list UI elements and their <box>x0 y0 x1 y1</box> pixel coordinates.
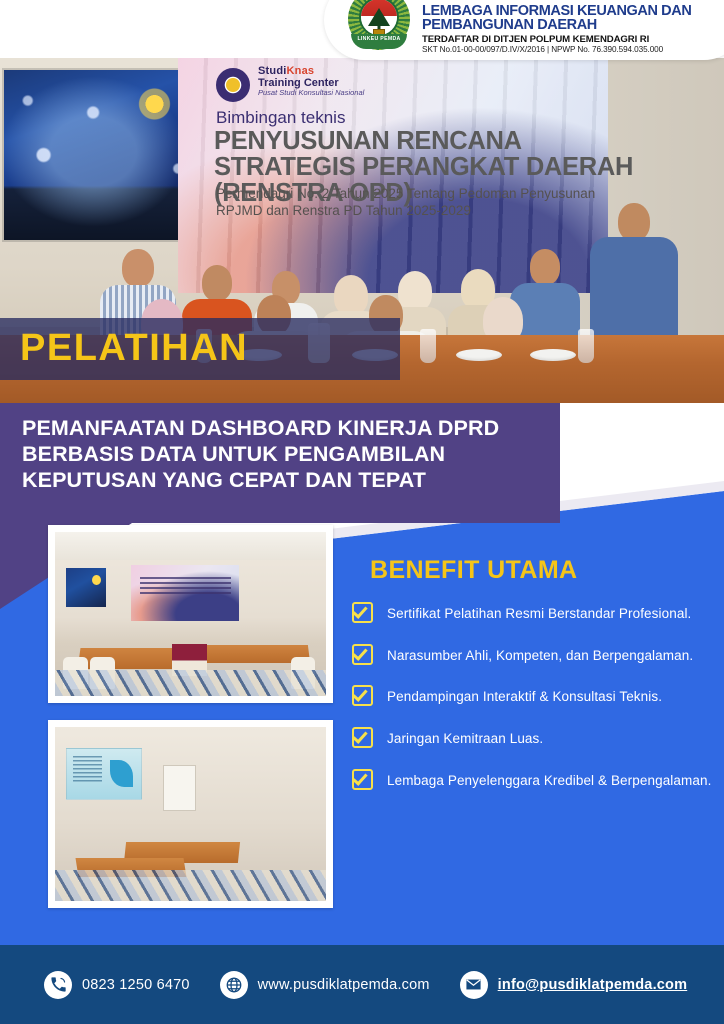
benefits-list: Sertifikat Pelatihan Resmi Berstandar Pr… <box>352 600 714 808</box>
benefit-item: Narasumber Ahli, Kompeten, dan Berpengal… <box>352 642 714 670</box>
organization-header: LINKEU PEMDA Pusat Pendidikan dan Pelati… <box>324 0 724 60</box>
email-address: info@pusdiklatpemda.com <box>498 977 688 993</box>
thumbnail-photo-2-image <box>55 727 326 901</box>
thumbnail-photo-1 <box>48 525 333 703</box>
benefit-item: Jaringan Kemitraan Luas. <box>352 725 714 753</box>
envelope-icon <box>460 971 488 999</box>
plate-icon <box>530 349 576 361</box>
glass-icon <box>578 329 594 363</box>
benefit-item-label: Sertifikat Pelatihan Resmi Berstandar Pr… <box>387 600 691 628</box>
benefit-item-label: Lembaga Penyelenggara Kredibel & Berpeng… <box>387 767 711 795</box>
person-head <box>530 249 560 285</box>
scene-backdrop-banner <box>131 565 239 621</box>
check-square-icon <box>352 602 373 623</box>
benefit-item-label: Jaringan Kemitraan Luas. <box>387 725 543 753</box>
studiknas-logo-text: StudiKnas Training Center Pusat Studi Ko… <box>258 66 364 97</box>
wall-painting <box>66 568 107 607</box>
check-square-icon <box>352 727 373 748</box>
footer-blue-strip <box>0 935 724 945</box>
studiknas-line3: Pusat Studi Konsultasi Nasional <box>258 89 364 97</box>
crest-ribbon: LINKEU PEMDA <box>351 34 407 49</box>
studiknas-logo-icon <box>216 68 250 102</box>
studiknas-line1: StudiKnas <box>258 66 364 78</box>
benefit-item-label: Narasumber Ahli, Kompeten, dan Berpengal… <box>387 642 693 670</box>
meeting-room-scene-2 <box>55 727 326 901</box>
person-head <box>202 265 232 301</box>
thumbnail-photo-1-image <box>55 532 326 696</box>
pusdiklat-crest-icon: LINKEU PEMDA <box>348 0 410 50</box>
phone-number: 0823 1250 6470 <box>82 977 190 993</box>
contact-footer: 0823 1250 6470 www.pusdiklatpemda.com in… <box>0 945 724 1024</box>
organization-header-text: Pusat Pendidikan dan Pelatihan - PUSDIKL… <box>422 0 724 55</box>
banner-eyebrow: Bimbingan teknis <box>216 108 345 128</box>
globe-icon <box>220 971 248 999</box>
projector-screen <box>66 748 142 800</box>
flipchart <box>163 765 196 810</box>
poster-root: StudiKnas Training Center Pusat Studi Ko… <box>0 0 724 1024</box>
check-square-icon <box>352 769 373 790</box>
header-line-3: PEMBANGUNAN DAERAH <box>422 18 724 33</box>
benefit-item: Lembaga Penyelenggara Kredibel & Berpeng… <box>352 767 714 795</box>
website-url: www.pusdiklatpemda.com <box>258 977 430 993</box>
meeting-room-scene-1 <box>55 532 326 696</box>
ceiling <box>55 532 326 560</box>
page-title: PEMANFAATAN DASHBOARD KINERJA DPRD BERBA… <box>22 415 542 494</box>
phone-icon <box>44 971 72 999</box>
benefit-item: Pendampingan Interaktif & Konsultasi Tek… <box>352 683 714 711</box>
contact-email[interactable]: info@pusdiklatpemda.com <box>460 971 688 999</box>
person-head <box>618 203 650 241</box>
header-line-5: SKT No.01-00-00/097/D.IV/X/2016 | NPWP N… <box>422 45 724 55</box>
glass-icon <box>420 329 436 363</box>
person-head <box>122 249 154 287</box>
contact-website[interactable]: www.pusdiklatpemda.com <box>220 971 430 999</box>
contact-phone[interactable]: 0823 1250 6470 <box>44 971 190 999</box>
thumbnail-photo-2 <box>48 720 333 908</box>
benefit-item: Sertifikat Pelatihan Resmi Berstandar Pr… <box>352 600 714 628</box>
check-square-icon <box>352 685 373 706</box>
pelatihan-label: PELATIHAN <box>20 327 248 370</box>
header-line-2: LEMBAGA INFORMASI KEUANGAN DAN <box>422 4 724 19</box>
benefits-heading: BENEFIT UTAMA <box>370 556 578 585</box>
header-line-4: TERDAFTAR DI DITJEN POLPUM KEMENDAGRI RI <box>422 34 724 46</box>
slide-graphic <box>110 760 134 787</box>
carpet <box>55 670 326 696</box>
check-square-icon <box>352 644 373 665</box>
carpet <box>55 870 326 901</box>
plate-icon <box>456 349 502 361</box>
benefit-item-label: Pendampingan Interaktif & Konsultasi Tek… <box>387 683 662 711</box>
